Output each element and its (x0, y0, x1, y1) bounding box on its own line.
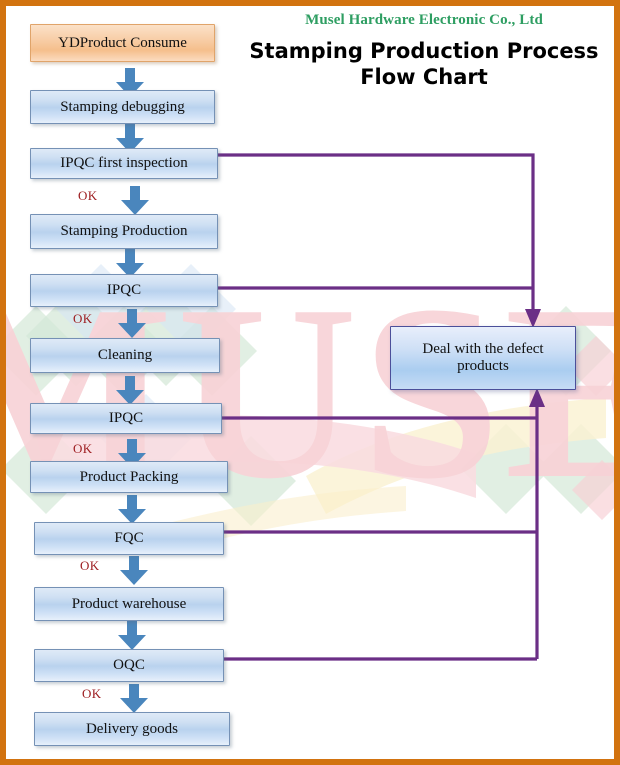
arrow-fqc-to-warehouse (118, 556, 150, 586)
arrow-cleaning-to-ipqc2 (114, 376, 146, 406)
ok-label-oqc: OK (82, 686, 101, 702)
arrow-oqc-to-delivery (118, 684, 150, 714)
node-oqc[interactable]: OQC (34, 649, 224, 682)
node-product-packing[interactable]: Product Packing (30, 461, 228, 493)
arrow-warehouse-to-oqc (116, 621, 148, 651)
node-ipqc-first-inspection[interactable]: IPQC first inspection (30, 148, 218, 179)
page-title-line-1: Stamping Production Process (238, 38, 610, 64)
ok-label-fqc: OK (80, 558, 99, 574)
node-fqc[interactable]: FQC (34, 522, 224, 555)
chart-header: Musel Hardware Electronic Co., Ltd Stamp… (238, 12, 610, 91)
node-product-warehouse[interactable]: Product warehouse (34, 587, 224, 621)
connector-arrowhead-up (529, 388, 545, 407)
arrow-packing-to-fqc (116, 495, 148, 525)
connector-ipqc-first-to-defect (218, 155, 533, 314)
node-ipqc-2[interactable]: IPQC (30, 403, 222, 434)
page-title: Stamping Production Process Flow Chart (238, 38, 610, 91)
node-stamping-production[interactable]: Stamping Production (30, 214, 218, 249)
node-stamping-debugging[interactable]: Stamping debugging (30, 90, 215, 124)
node-cleaning[interactable]: Cleaning (30, 338, 220, 373)
page-title-line-2: Flow Chart (238, 64, 610, 90)
flowchart-page: MUSE Musel Hardwar (0, 0, 620, 765)
node-deal-with-defect-products[interactable]: Deal with the defect products (390, 326, 576, 390)
arrow-ipqc-first-to-production (119, 186, 151, 216)
ok-label-ipqc-first: OK (78, 188, 97, 204)
node-ipqc-1[interactable]: IPQC (30, 274, 218, 307)
ok-label-ipqc1: OK (73, 311, 92, 327)
company-name: Musel Hardware Electronic Co., Ltd (238, 12, 610, 29)
node-delivery-goods[interactable]: Delivery goods (34, 712, 230, 746)
node-start-ydproduct-consume[interactable]: YDProduct Consume (30, 24, 215, 62)
ok-label-ipqc2: OK (73, 441, 92, 457)
arrow-ipqc1-to-cleaning (116, 309, 148, 339)
